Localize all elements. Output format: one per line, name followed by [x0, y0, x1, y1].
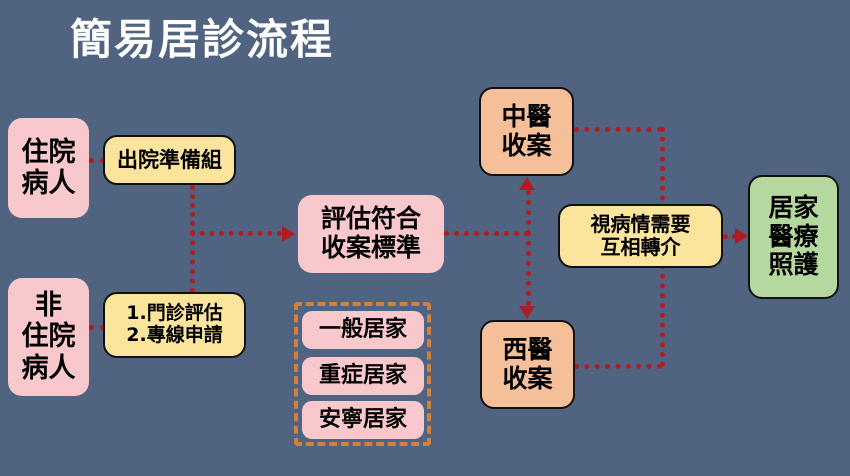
- connector-discharge-down: [190, 185, 195, 235]
- node-criteria-line-1: 評估符合: [321, 205, 421, 234]
- node-outpatient-line-3: 病人: [22, 353, 76, 384]
- node-wm-intake-line-1: 西醫: [502, 336, 552, 365]
- node-care-type-general-label: 一般居家: [319, 317, 407, 342]
- node-tcm-intake[interactable]: 中醫 收案: [479, 87, 574, 176]
- connector-criteria-to-spine: [444, 231, 529, 236]
- node-criteria[interactable]: 評估符合 收案標準: [298, 195, 444, 273]
- node-home-care-line-3: 照護: [768, 251, 818, 280]
- arrowhead-to-tcm: [519, 177, 535, 190]
- connector-junction-to-criteria: [190, 231, 282, 236]
- node-home-care[interactable]: 居家 醫療 照護: [748, 175, 839, 299]
- node-care-type-hospice[interactable]: 安寧居家: [302, 401, 424, 439]
- arrowhead-to-wm: [519, 306, 535, 319]
- node-mutual-referral-line-2: 互相轉介: [601, 236, 681, 259]
- connector-spine-down-to-wm: [526, 231, 531, 306]
- node-discharge-team-label: 出院準備組: [117, 148, 222, 172]
- node-care-type-severe[interactable]: 重症居家: [302, 357, 424, 395]
- node-inpatient-line-2: 病人: [22, 168, 76, 199]
- node-outpatient-line-2: 住院: [22, 321, 76, 352]
- node-outpatient[interactable]: 非 住院 病人: [8, 278, 89, 396]
- arrowhead-to-criteria: [282, 226, 295, 242]
- flowchart-canvas: 簡易居診流程 住院 病人 出院準備組 非 住院 病人 1.門診評估 2.專線申: [0, 0, 850, 476]
- node-inpatient[interactable]: 住院 病人: [8, 118, 89, 218]
- node-criteria-line-2: 收案標準: [321, 234, 421, 263]
- connector-loop-to-wm: [574, 364, 662, 369]
- node-discharge-team[interactable]: 出院準備組: [103, 135, 236, 185]
- node-home-care-line-2: 醫療: [768, 223, 818, 252]
- node-wm-intake[interactable]: 西醫 收案: [480, 320, 575, 409]
- node-apply-step-1: 1.門診評估: [126, 303, 222, 325]
- connector-tcm-to-loop: [574, 127, 662, 132]
- node-care-type-severe-label: 重症居家: [319, 363, 407, 388]
- connector-spine-up-to-tcm: [526, 190, 531, 235]
- node-mutual-referral-line-1: 視病情需要: [591, 213, 691, 236]
- node-outpatient-line-1: 非: [35, 290, 62, 321]
- connector-apply-up: [190, 231, 195, 293]
- node-inpatient-line-1: 住院: [22, 137, 76, 168]
- node-tcm-intake-line-1: 中醫: [501, 103, 551, 132]
- node-apply-steps[interactable]: 1.門診評估 2.專線申請: [103, 292, 246, 358]
- node-care-type-general[interactable]: 一般居家: [302, 311, 424, 349]
- node-mutual-referral[interactable]: 視病情需要 互相轉介: [558, 204, 723, 268]
- node-care-type-hospice-label: 安寧居家: [319, 407, 407, 432]
- arrowhead-to-homecare: [735, 228, 748, 244]
- node-tcm-intake-line-2: 收案: [501, 132, 551, 161]
- node-home-care-line-1: 居家: [768, 194, 818, 223]
- node-apply-step-2: 2.專線申請: [126, 325, 222, 347]
- page-title: 簡易居診流程: [70, 17, 334, 63]
- node-wm-intake-line-2: 收案: [502, 365, 552, 394]
